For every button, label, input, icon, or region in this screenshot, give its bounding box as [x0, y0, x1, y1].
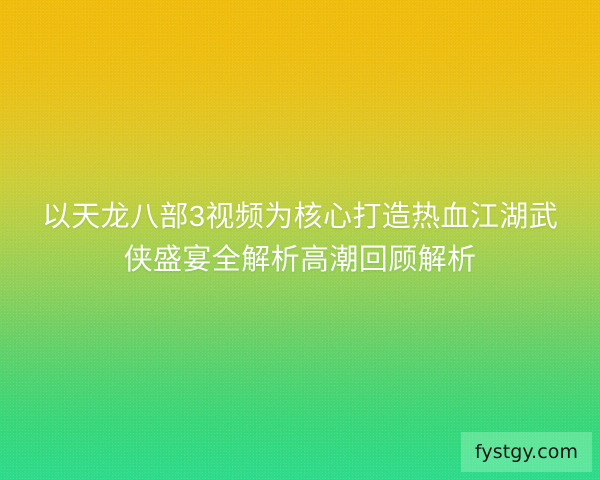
page-title: 以天龙八部3视频为核心打造热血江湖武 侠盛宴全解析高潮回顾解析: [0, 196, 600, 282]
cover-image: 以天龙八部3视频为核心打造热血江湖武 侠盛宴全解析高潮回顾解析 fystgy.c…: [0, 0, 600, 480]
watermark-label: fystgy.com: [475, 441, 578, 463]
watermark-badge: fystgy.com: [461, 432, 592, 472]
title-line-2: 侠盛宴全解析高潮回顾解析: [26, 239, 574, 282]
title-line-1: 以天龙八部3视频为核心打造热血江湖武: [26, 196, 574, 239]
